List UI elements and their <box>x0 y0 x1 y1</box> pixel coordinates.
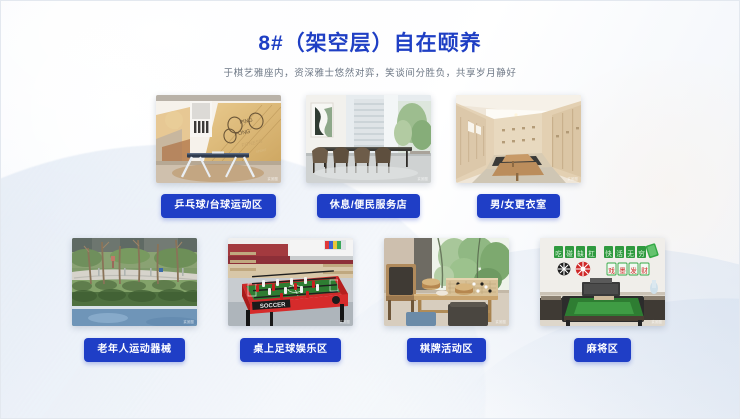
photo-watermark: 实景图 <box>496 320 506 324</box>
go-chess-table-photo: 实景图 <box>384 238 509 326</box>
amenity-label-rest-service[interactable]: 休息/便民服务店 <box>317 194 421 218</box>
amenity-card[interactable]: SOCCER 实景图 桌上足球娱乐区 <box>228 238 353 362</box>
locker-room-photo: 实景图 <box>456 95 581 183</box>
amenity-card[interactable]: 实景图 休息/便民服务店 <box>306 95 431 218</box>
slide-header: 8#（架空层）自在颐养 于棋艺雅座内，资深雅士悠然对弈，笑谈间分胜负，共享岁月静… <box>0 30 740 81</box>
foosball-table-photo: SOCCER 实景图 <box>228 238 353 326</box>
photo-watermark: 实景图 <box>418 177 428 181</box>
amenity-card[interactable]: 吃碰缺杠 快活无穷 <box>540 238 665 362</box>
photo-watermark: 实景图 <box>340 320 350 324</box>
page-title: 8#（架空层）自在颐养 <box>0 30 740 58</box>
amenity-label-ping-pong[interactable]: 乒乓球/台球运动区 <box>161 194 275 218</box>
amenity-label-chess-cards[interactable]: 棋牌活动区 <box>407 338 486 362</box>
slide-canvas: 8#（架空层）自在颐养 于棋艺雅座内，资深雅士悠然对弈，笑谈间分胜负，共享岁月静… <box>0 0 740 419</box>
amenity-card[interactable]: 实景图 男/女更衣室 <box>456 95 581 218</box>
amenity-card[interactable]: 实景图 老年人运动器械 <box>72 238 197 362</box>
amenity-label-mahjong[interactable]: 麻将区 <box>574 338 632 362</box>
amenity-card[interactable]: 实景图 棋牌活动区 <box>384 238 509 362</box>
svg-text:墨: 墨 <box>619 267 626 275</box>
amenity-card[interactable]: PING PONG FITNESS SPORT <box>156 95 281 218</box>
amenity-label-foosball[interactable]: 桌上足球娱乐区 <box>240 338 340 362</box>
amenity-label-elderly-fitness[interactable]: 老年人运动器械 <box>84 338 184 362</box>
svg-text:戏: 戏 <box>608 266 615 275</box>
elderly-fitness-garden-photo: 实景图 <box>72 238 197 326</box>
svg-text:杠: 杠 <box>588 249 595 258</box>
mahjong-room-photo: 吃碰缺杠 快活无穷 <box>540 238 665 326</box>
photo-watermark: 实景图 <box>652 320 662 324</box>
svg-text:活: 活 <box>616 249 623 258</box>
ping-pong-room-photo: PING PONG FITNESS SPORT <box>156 95 281 183</box>
svg-text:穷: 穷 <box>638 249 645 258</box>
svg-text:碰: 碰 <box>566 249 573 258</box>
page-subtitle: 于棋艺雅座内，资深雅士悠然对弈，笑谈间分胜负，共享岁月静好 <box>0 67 740 81</box>
photo-watermark: 实景图 <box>268 177 278 181</box>
amenity-row-bottom: 实景图 老年人运动器械 <box>72 238 665 362</box>
photo-watermark: 实景图 <box>568 177 578 181</box>
svg-text:财: 财 <box>641 266 648 275</box>
svg-text:缺: 缺 <box>577 249 584 258</box>
amenity-label-locker-room[interactable]: 男/女更衣室 <box>477 194 559 218</box>
svg-text:无: 无 <box>627 250 634 258</box>
photo-watermark: 实景图 <box>184 320 194 324</box>
svg-text:快: 快 <box>605 249 612 258</box>
amenity-row-top: PING PONG FITNESS SPORT <box>156 95 581 218</box>
svg-text:吃: 吃 <box>555 249 562 258</box>
svg-text:发: 发 <box>630 266 637 275</box>
rest-service-lounge-photo: 实景图 <box>306 95 431 183</box>
